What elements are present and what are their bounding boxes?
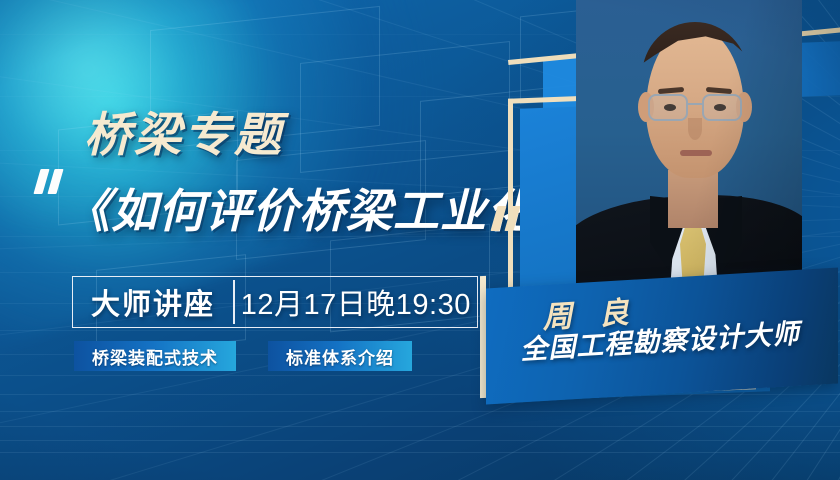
page-title: 桥梁专题	[84, 96, 284, 165]
lecture-datetime: 12月17日晚19:30	[235, 277, 477, 327]
topic-tag[interactable]: 标准体系介绍	[268, 341, 412, 371]
speaker-composition: 周 良 全国工程勘察设计大师	[480, 0, 840, 480]
nameplate-text-group: 周 良 全国工程勘察设计大师	[486, 257, 840, 394]
lecture-type-label: 大师讲座	[73, 277, 233, 327]
lecture-info-bar: 大师讲座 12月17日晚19:30	[72, 276, 478, 328]
topic-tag-list: 桥梁装配式技术 标准体系介绍	[74, 341, 412, 371]
topic-tag[interactable]: 桥梁装配式技术	[74, 341, 236, 371]
quote-open-icon	[37, 169, 46, 194]
poster-canvas: 桥梁专题 《如何评价桥梁工业化》 大师讲座 12月17日晚19:30 桥梁装配式…	[0, 0, 840, 480]
